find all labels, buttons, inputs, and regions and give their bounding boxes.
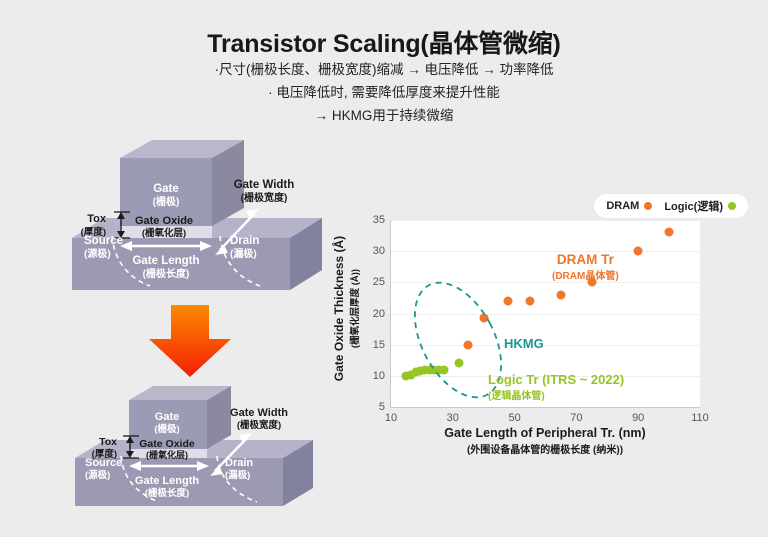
gate-block — [120, 140, 244, 226]
gate-width-label-cn: (栅极宽度) — [237, 419, 281, 431]
gridline — [391, 251, 700, 252]
gate-width-label: Gate Width — [234, 179, 295, 191]
gridline — [391, 314, 700, 315]
y-axis-label-main: Gate Oxide Thickness (Å) — [333, 235, 347, 380]
page-title: Transistor Scaling(晶体管微缩) — [0, 24, 768, 60]
x-axis-tick: 30 — [447, 412, 459, 424]
y-axis-label-sub: (栅氧化层厚度 (Å)) — [348, 235, 362, 380]
data-point — [665, 228, 674, 237]
annotation-dram: DRAM Tr (DRAM晶体管) — [552, 252, 619, 282]
gate-width-label: Gate Width — [230, 407, 288, 419]
drain-label: Drain — [230, 235, 259, 247]
data-point — [479, 314, 488, 323]
tox-label: Tox — [99, 436, 117, 448]
x-axis-label-main: Gate Length of Peripheral Tr. (nm) — [390, 426, 700, 440]
source-label-cn: (源极) — [84, 247, 111, 260]
data-point — [504, 297, 513, 306]
gate-length-label: Gate Length — [135, 475, 199, 487]
source-label: Source — [84, 235, 123, 247]
gate-oxide-label: Gate Oxide — [139, 438, 195, 450]
downward-scaling-arrow — [145, 303, 235, 379]
gridline — [391, 345, 700, 346]
gate-oxide-label-cn: (栅氧化层) — [142, 227, 186, 239]
x-axis-label: Gate Length of Peripheral Tr. (nm) (外围设备… — [390, 426, 700, 456]
source-label-cn: (源极) — [85, 469, 110, 481]
gate-label: Gate — [153, 183, 179, 195]
data-point — [556, 290, 565, 299]
x-axis-tick: 90 — [632, 412, 644, 424]
source-label: Source — [85, 457, 122, 469]
data-point — [634, 247, 643, 256]
annotation-logic-sub: (逻辑晶体管) — [488, 387, 624, 402]
y-axis-tick: 15 — [373, 339, 385, 351]
bullet-list: ·尺寸(栅极长度、栅极宽度)缩减 → 电压降低 → 功率降低 · 电压降低时, … — [0, 60, 768, 126]
bullet-1: ·尺寸(栅极长度、栅极宽度)缩减 → 电压降低 → 功率降低 — [0, 60, 768, 80]
data-point — [464, 340, 473, 349]
gridline — [391, 220, 700, 221]
scatter-chart: DRAM Logic(逻辑) Gate Oxide Thickness (Å) … — [336, 186, 756, 486]
x-axis-tick: 50 — [508, 412, 520, 424]
gate-length-label: Gate Length — [132, 255, 199, 267]
y-axis-tick: 35 — [373, 214, 385, 226]
legend-label-logic: Logic(逻辑) — [664, 198, 723, 214]
y-axis-tick: 25 — [373, 276, 385, 288]
legend-item-logic[interactable]: Logic(逻辑) — [664, 198, 736, 214]
gate-length-label-cn: (栅极长度) — [145, 487, 189, 499]
legend-dot-dram-icon — [644, 202, 652, 210]
x-axis-label-sub: (外围设备晶体管的栅极长度 (纳米)) — [390, 441, 700, 456]
x-axis-tick: 70 — [570, 412, 582, 424]
x-axis-tick: 110 — [691, 412, 709, 424]
y-axis-label: Gate Oxide Thickness (Å) (栅氧化层厚度 (Å)) — [330, 210, 364, 406]
legend-item-dram[interactable]: DRAM — [606, 200, 652, 212]
large-transistor-diagram: Gate (栅极) Gate Width (栅极宽度) Gate Oxide (… — [42, 140, 332, 300]
drain-label-cn: (漏极) — [225, 469, 250, 481]
gate-label: Gate — [155, 411, 179, 423]
annotation-logic: Logic Tr (ITRS ~ 2022) (逻辑晶体管) — [488, 372, 624, 402]
y-axis-tick: 10 — [373, 370, 385, 382]
legend-dot-logic-icon — [728, 202, 736, 210]
gate-width-label-cn: (栅极宽度) — [241, 191, 288, 204]
gate-label-cn: (栅极) — [153, 195, 180, 208]
y-axis-tick: 20 — [373, 308, 385, 320]
gridline — [391, 282, 700, 283]
annotation-logic-main: Logic Tr (ITRS ~ 2022) — [488, 372, 624, 387]
bullet-3: → HKMG用于持续微缩 — [0, 106, 768, 126]
annotation-dram-main: DRAM Tr — [552, 252, 619, 267]
gate-oxide-label-cn: (栅氧化层) — [146, 449, 188, 460]
y-axis-tick: 30 — [373, 245, 385, 257]
annotation-dram-sub: (DRAM晶体管) — [552, 267, 619, 282]
legend-label-dram: DRAM — [606, 200, 639, 212]
gate-oxide-label: Gate Oxide — [135, 215, 193, 227]
tox-label: Tox — [87, 213, 107, 225]
gate-length-label-cn: (栅极长度) — [143, 267, 190, 280]
data-point — [454, 358, 463, 367]
chart-legend: DRAM Logic(逻辑) — [594, 194, 748, 218]
drain-label-cn: (漏极) — [230, 247, 257, 260]
drain-label: Drain — [225, 457, 253, 469]
data-point — [526, 297, 535, 306]
small-transistor-diagram: Gate (栅极) Gate Width (栅极宽度) Gate Oxide (… — [55, 386, 325, 516]
x-axis-tick: 10 — [385, 412, 397, 424]
annotation-hkmg: HKMG — [504, 336, 544, 351]
gate-label-cn: (栅极) — [154, 423, 179, 435]
data-point — [439, 365, 448, 374]
slide-root: Transistor Scaling(晶体管微缩) ·尺寸(栅极长度、栅极宽度)… — [0, 0, 768, 537]
arrow-shape — [149, 305, 231, 377]
bullet-2: · 电压降低时, 需要降低厚度来提升性能 — [0, 83, 768, 103]
